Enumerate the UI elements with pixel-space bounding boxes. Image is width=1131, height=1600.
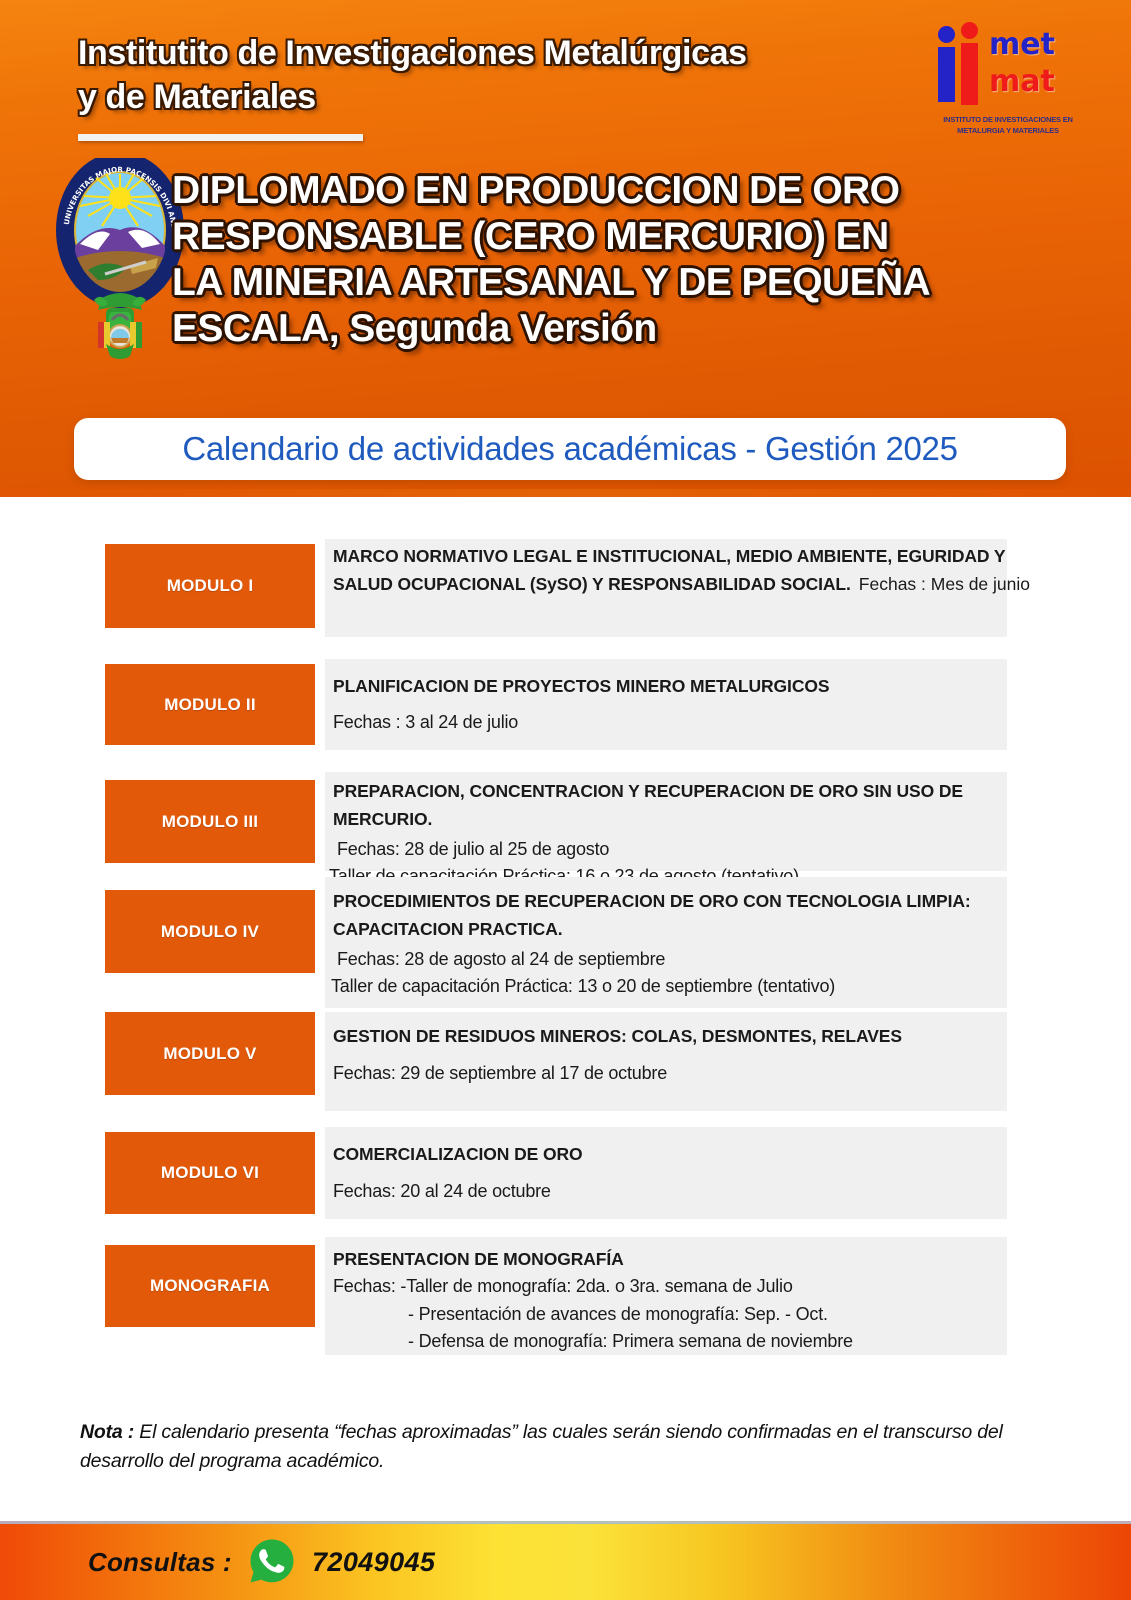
logo-text-met: met xyxy=(989,30,1055,60)
module-date: Fechas: 28 de agosto al 24 de septiembre xyxy=(333,946,1033,973)
module-date: Fechas: 29 de septiembre al 17 de octubr… xyxy=(333,1060,1033,1087)
module-title: COMERCIALIZACION DE ORO xyxy=(333,1140,1033,1168)
module-date: Fechas: 20 al 24 de octubre xyxy=(333,1178,1033,1205)
note-text: Nota : El calendario presenta “fechas ap… xyxy=(80,1418,1055,1477)
program-title-line4: ESCALA, Segunda Versión xyxy=(172,306,1052,352)
module-tag[interactable]: MODULO III xyxy=(105,780,315,863)
module-workshop-date: Taller de capacitación Práctica: 13 o 20… xyxy=(331,973,1033,1000)
module-tag[interactable]: MONOGRAFIA xyxy=(105,1245,315,1327)
module-tag[interactable]: MODULO II xyxy=(105,664,315,745)
institute-name-line1: Institutito de Investigaciones Metalúrgi… xyxy=(78,32,908,76)
module-date: Fechas: -Taller de monografía: 2da. o 3r… xyxy=(333,1273,1033,1300)
module-date: Fechas: 28 de julio al 25 de agosto xyxy=(333,836,1033,863)
module-tag[interactable]: MODULO IV xyxy=(105,890,315,973)
program-title-line2: RESPONSABLE (CERO MERCURIO) EN xyxy=(172,214,1052,260)
consultas-label: Consultas : xyxy=(88,1547,232,1578)
program-title-line3: LA MINERIA ARTESANAL Y DE PEQUEÑA xyxy=(172,260,1052,306)
module-title: PRESENTACION DE MONOGRAFÍA xyxy=(333,1245,1033,1273)
whatsapp-phone-number[interactable]: 72049045 xyxy=(312,1547,435,1578)
institute-name-line2: y de Materiales xyxy=(78,76,908,120)
header-divider xyxy=(78,134,363,141)
module-title: PREPARACION, CONCENTRACION Y RECUPERACIO… xyxy=(333,777,1033,834)
note-label: Nota : xyxy=(80,1421,134,1443)
module-date: - Defensa de monografía: Primera semana … xyxy=(333,1328,1033,1355)
program-title-line1: DIPLOMADO EN PRODUCCION DE ORO xyxy=(172,168,1052,214)
iimetmat-logo: met mat INSTITUTO DE INVESTIGACIONES EN … xyxy=(933,22,1083,140)
module-inline-date: Fechas : Mes de junio xyxy=(859,574,1030,594)
institute-name: Institutito de Investigaciones Metalúrgi… xyxy=(78,32,908,119)
whatsapp-icon[interactable] xyxy=(249,1538,295,1584)
module-title: GESTION DE RESIDUOS MINEROS: COLAS, DESM… xyxy=(333,1022,1033,1050)
logo-text-mat: mat xyxy=(989,67,1055,97)
logo-mark-icon: met mat xyxy=(933,22,1083,112)
module-date: Fechas : 3 al 24 de julio xyxy=(333,709,1033,736)
note-body: El calendario presenta “fechas aproximad… xyxy=(80,1421,1003,1472)
module-tag[interactable]: MODULO VI xyxy=(105,1132,315,1214)
calendar-subtitle-text: Calendario de actividades académicas - G… xyxy=(182,430,957,468)
header-banner: Institutito de Investigaciones Metalúrgi… xyxy=(0,0,1131,497)
logo-letter-i-red-icon xyxy=(961,22,978,105)
logo-caption: INSTITUTO DE INVESTIGACIONES EN METALURG… xyxy=(933,114,1083,137)
calendar-subtitle-banner: Calendario de actividades académicas - G… xyxy=(74,418,1066,480)
module-title: PLANIFICACION DE PROYECTOS MINERO METALU… xyxy=(333,672,1033,700)
footer-bar: Consultas : 72049045 xyxy=(0,1521,1131,1600)
module-title: PROCEDIMIENTOS DE RECUPERACION DE ORO CO… xyxy=(333,887,1033,944)
page-title: DIPLOMADO EN PRODUCCION DE ORO RESPONSAB… xyxy=(172,168,1052,352)
module-date: - Presentación de avances de monografía:… xyxy=(333,1301,1033,1328)
logo-letter-i-blue-icon xyxy=(938,26,955,102)
umsa-seal-icon: UNIVERSITAS MAJOR PACENSIS DIVI ANDREÆ xyxy=(50,158,190,373)
logo-caption-line1: INSTITUTO DE INVESTIGACIONES EN xyxy=(933,114,1083,125)
logo-caption-line2: METALURGIA Y MATERIALES xyxy=(933,125,1083,136)
module-tag[interactable]: MODULO V xyxy=(105,1012,315,1095)
module-tag[interactable]: MODULO I xyxy=(105,544,315,628)
